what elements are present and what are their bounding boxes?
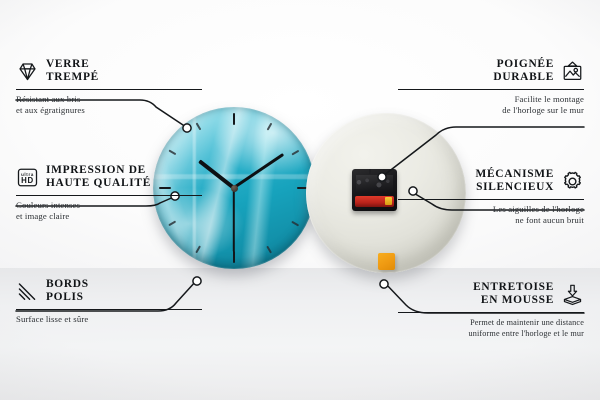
- title-line-1: MÉCANISME: [476, 168, 554, 180]
- title-line-2: HAUTE QUALITÉ: [46, 177, 151, 189]
- callout-title-text: POIGNÉE DURABLE: [493, 58, 554, 85]
- callout-rule: [398, 89, 584, 90]
- callout-rule: [16, 89, 202, 90]
- sub-line-2: ne font aucun bruit: [515, 215, 584, 225]
- sub-line-1: Couleurs intenses: [16, 200, 80, 210]
- title-line-1: IMPRESSION DE: [46, 164, 146, 176]
- sub-line-2: de l'horloge sur le mur: [502, 105, 584, 115]
- callout-subtext: Couleurs intenses et image claire: [16, 200, 202, 222]
- callout-subtext: Facilite le montage de l'horloge sur le …: [398, 94, 584, 116]
- callout-rule: [16, 309, 202, 310]
- callout-high-quality-print: ultra HD IMPRESSION DE HAUTE QUALITÉ Cou…: [16, 164, 202, 222]
- callout-dot-tempered-glass: [183, 124, 191, 132]
- callout-title: MÉCANISME SILENCIEUX: [398, 168, 584, 195]
- callout-title: ENTRETOISE EN MOUSSE: [398, 281, 584, 308]
- callout-subtext: Les aiguilles de l'horloge ne font aucun…: [398, 204, 584, 226]
- sub-line-1: Surface lisse et sûre: [16, 314, 88, 324]
- callout-rule: [398, 199, 584, 200]
- callout-title-text: ENTRETOISE EN MOUSSE: [473, 281, 554, 308]
- callout-title: POIGNÉE DURABLE: [398, 58, 584, 85]
- press-down-pad-icon: [561, 283, 584, 306]
- title-line-1: VERRE: [46, 58, 89, 70]
- picture-frame-icon: [561, 60, 584, 83]
- callout-title: BORDS POLIS: [16, 278, 202, 305]
- callout-rule: [16, 195, 202, 196]
- callout-title-text: BORDS POLIS: [46, 278, 89, 305]
- title-line-1: POIGNÉE: [497, 58, 554, 70]
- callout-title-text: MÉCANISME SILENCIEUX: [476, 168, 554, 195]
- callout-subtext: Résistant aux bris et aux égratignures: [16, 94, 202, 116]
- callout-title-text: IMPRESSION DE HAUTE QUALITÉ: [46, 164, 151, 191]
- title-line-1: ENTRETOISE: [473, 281, 554, 293]
- gear-icon: [561, 170, 584, 193]
- callout-subtext: Surface lisse et sûre: [16, 314, 202, 325]
- callout-subtext: Permet de maintenir une distance uniform…: [398, 317, 584, 339]
- callout-polished-edges: BORDS POLIS Surface lisse et sûre: [16, 278, 202, 325]
- callout-dot-foam-spacer: [380, 280, 388, 288]
- infographic-canvas: VERRE TREMPÉ Résistant aux bris et aux é…: [0, 0, 600, 400]
- sub-line-1: Les aiguilles de l'horloge: [493, 204, 584, 214]
- sub-line-2: uniforme entre l'horloge et le mur: [469, 329, 584, 338]
- callout-foam-spacer: ENTRETOISE EN MOUSSE Permet de maintenir…: [398, 281, 584, 339]
- diamond-icon: [16, 60, 39, 83]
- sub-line-1: Résistant aux bris: [16, 94, 80, 104]
- sub-line-2: et aux égratignures: [16, 105, 85, 115]
- diagonal-lines-icon: [16, 280, 39, 303]
- callout-durable-hanger: POIGNÉE DURABLE Facilite le montage de l…: [398, 58, 584, 116]
- sub-line-1: Facilite le montage: [515, 94, 584, 104]
- title-line-2: SILENCIEUX: [476, 181, 554, 193]
- title-line-2: DURABLE: [493, 71, 554, 83]
- ultra-hd-icon: ultra HD: [16, 166, 39, 189]
- callout-title: VERRE TREMPÉ: [16, 58, 202, 85]
- callout-title: ultra HD IMPRESSION DE HAUTE QUALITÉ: [16, 164, 202, 191]
- callout-rule: [398, 312, 584, 313]
- svg-text:HD: HD: [21, 176, 34, 185]
- sub-line-1: Permet de maintenir une distance: [470, 318, 584, 327]
- callout-tempered-glass: VERRE TREMPÉ Résistant aux bris et aux é…: [16, 58, 202, 116]
- title-line-2: POLIS: [46, 291, 84, 303]
- sub-line-2: et image claire: [16, 211, 69, 221]
- title-line-1: BORDS: [46, 278, 89, 290]
- title-line-2: TREMPÉ: [46, 71, 99, 83]
- callout-silent-mechanism: MÉCANISME SILENCIEUX Les aiguilles de l'…: [398, 168, 584, 226]
- callout-title-text: VERRE TREMPÉ: [46, 58, 99, 85]
- title-line-2: EN MOUSSE: [481, 294, 554, 306]
- callout-dot-durable-hanger: [378, 173, 386, 181]
